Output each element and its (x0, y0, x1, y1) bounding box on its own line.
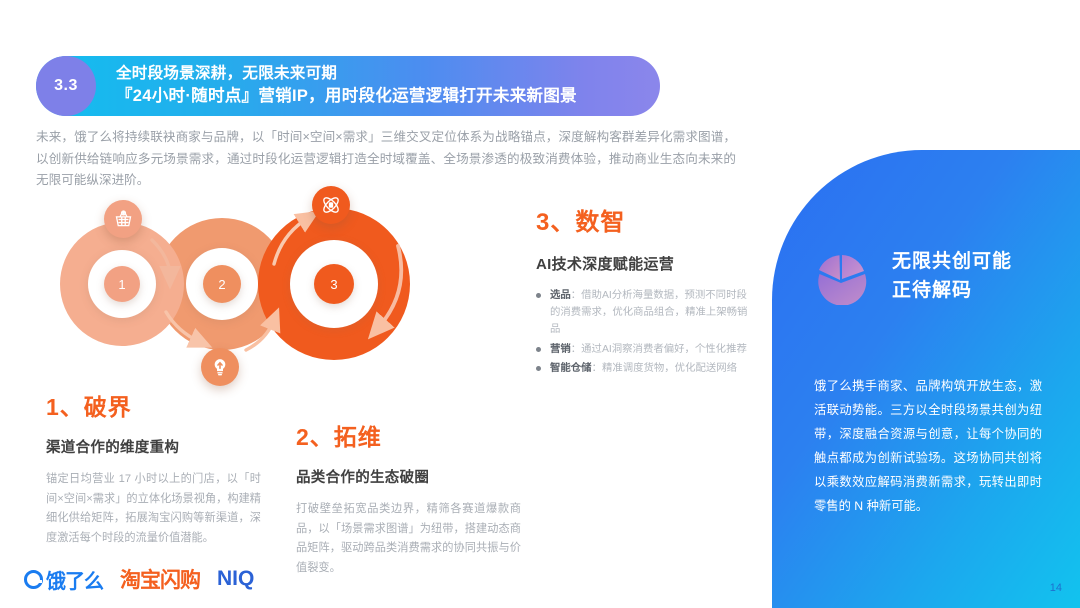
ring-3-number: 3 (314, 264, 354, 304)
section-block-1: 1、破界 渠道合作的维度重构 锚定日均营业 17 小时以上的门店，以「时间×空间… (46, 388, 261, 548)
blue-panel-title: 无限共创可能 正待解码 (892, 248, 1012, 305)
list-item: 营销：通过AI洞察消费者偏好，个性化推荐 (536, 342, 751, 359)
footer-logos: 饿了么 淘宝闪购 NIQ (24, 564, 254, 594)
list-item: 智能仓储：精准调度货物，优化配送网络 (536, 361, 751, 378)
ring-3: 3 (258, 208, 410, 360)
right-blue-panel: 无限共创可能 正待解码 饿了么携手商家、品牌构筑开放生态，激活联动势能。三方以全… (772, 150, 1080, 608)
section-number-badge: 3.3 (36, 56, 96, 116)
eleme-logo-text: 饿了么 (46, 565, 103, 594)
ring-2-number: 2 (203, 265, 241, 303)
blue-panel-title-line1: 无限共创可能 (892, 248, 1012, 277)
section-1-title: 1、破界 (46, 388, 261, 422)
intro-paragraph: 未来，饿了么将持续联袂商家与品牌，以「时间×空间×需求」三维交叉定位体系为战略锚… (36, 127, 736, 192)
blue-panel-header: 无限共创可能 正待解码 (814, 248, 1012, 305)
section-1-subtitle: 渠道合作的维度重构 (46, 436, 261, 457)
section-2-body: 打破壁垒拓宽品类边界，精筛各赛道爆款商品，以「场景需求图谱」为纽带，搭建动态商品… (296, 500, 521, 578)
taobao-shangou-logo: 淘宝闪购 (120, 564, 200, 594)
lightbulb-idea-icon (201, 348, 239, 386)
section-1-body: 锚定日均营业 17 小时以上的门店，以「时间×空间×需求」的立体化场景视角，构建… (46, 470, 261, 548)
bullet-1-label: 选品 (550, 290, 571, 301)
page-number: 14 (1050, 582, 1062, 594)
shopping-basket-icon (104, 200, 142, 238)
section-2-subtitle: 品类合作的生态破圈 (296, 466, 521, 487)
pie-chart-icon (814, 249, 870, 305)
ring-1: 1 (60, 222, 184, 346)
bullet-1-text: ：借助AI分析海量数据，预测不同时段的消费需求，优化商品组合，精准上架畅销品 (550, 290, 747, 335)
header-title: 全时段场景深耕，无限未来可期 『24小时·随时点』营销IP，用时段化运营逻辑打开… (116, 63, 577, 108)
atom-ai-icon (312, 186, 350, 224)
section-header-bar: 全时段场景深耕，无限未来可期 『24小时·随时点』营销IP，用时段化运营逻辑打开… (36, 56, 660, 116)
bullet-2-text: ：通过AI洞察消费者偏好，个性化推荐 (571, 344, 747, 355)
ring-1-number: 1 (104, 266, 140, 302)
list-item: 选品：借助AI分析海量数据，预测不同时段的消费需求，优化商品组合，精准上架畅销品 (536, 288, 751, 339)
bullet-2-label: 营销 (550, 344, 571, 355)
header-title-line2: 『24小时·随时点』营销IP，用时段化运营逻辑打开未来新图景 (116, 85, 577, 108)
section-2-title: 2、拓维 (296, 418, 521, 452)
eleme-logo: 饿了么 (24, 565, 103, 594)
eleme-e-icon (24, 570, 43, 589)
three-ring-diagram: 1 2 3 (60, 200, 530, 420)
bullet-3-text: ：精准调度货物，优化配送网络 (592, 363, 737, 374)
section-block-2: 2、拓维 品类合作的生态破圈 打破壁垒拓宽品类边界，精筛各赛道爆款商品，以「场景… (296, 418, 521, 578)
section-3-subtitle: AI技术深度赋能运营 (536, 253, 751, 274)
blue-panel-title-line2: 正待解码 (892, 277, 1012, 306)
section-block-3: 3、数智 AI技术深度赋能运营 选品：借助AI分析海量数据，预测不同时段的消费需… (536, 202, 751, 381)
section-3-bullet-list: 选品：借助AI分析海量数据，预测不同时段的消费需求，优化商品组合，精准上架畅销品… (536, 288, 751, 378)
section-3-title: 3、数智 (536, 202, 751, 237)
header-title-line1: 全时段场景深耕，无限未来可期 (116, 63, 577, 85)
bullet-3-label: 智能仓储 (550, 363, 592, 374)
blue-panel-body: 饿了么携手商家、品牌构筑开放生态，激活联动势能。三方以全时段场景共创为纽带，深度… (814, 375, 1042, 519)
niq-logo: NIQ (217, 567, 254, 591)
